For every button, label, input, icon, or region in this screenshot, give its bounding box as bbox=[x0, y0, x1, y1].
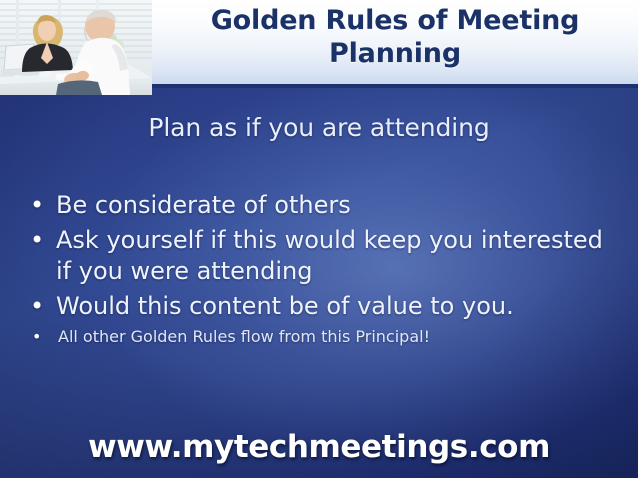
slide-subtitle: Plan as if you are attending bbox=[0, 113, 638, 143]
meeting-photo bbox=[0, 0, 152, 95]
bullet-point-icon: • bbox=[30, 190, 56, 221]
list-item-text: Would this content be of value to you. bbox=[56, 291, 616, 322]
list-item-text: All other Golden Rules flow from this Pr… bbox=[58, 326, 616, 348]
list-item-text: Ask yourself if this would keep you inte… bbox=[56, 225, 616, 287]
title-line-2: Planning bbox=[152, 37, 638, 70]
bullet-point-icon: • bbox=[30, 291, 56, 322]
title-line-1: Golden Rules of Meeting bbox=[152, 4, 638, 37]
list-item: • Would this content be of value to you. bbox=[30, 291, 616, 322]
list-item: • Be considerate of others bbox=[30, 190, 616, 221]
list-item-text: Be considerate of others bbox=[56, 190, 616, 221]
bullet-point-icon: • bbox=[30, 326, 58, 348]
presentation-slide: Golden Rules of Meeting Planning Plan as… bbox=[0, 0, 638, 478]
meeting-photo-illustration bbox=[0, 0, 152, 95]
bullet-point-icon: • bbox=[30, 225, 56, 256]
footer-website-url: www.mytechmeetings.com bbox=[0, 428, 638, 466]
list-item: • Ask yourself if this would keep you in… bbox=[30, 225, 616, 287]
bullet-list: • Be considerate of others • Ask yoursel… bbox=[30, 190, 616, 348]
page-title: Golden Rules of Meeting Planning bbox=[152, 4, 638, 70]
list-item: • All other Golden Rules flow from this … bbox=[30, 326, 616, 348]
